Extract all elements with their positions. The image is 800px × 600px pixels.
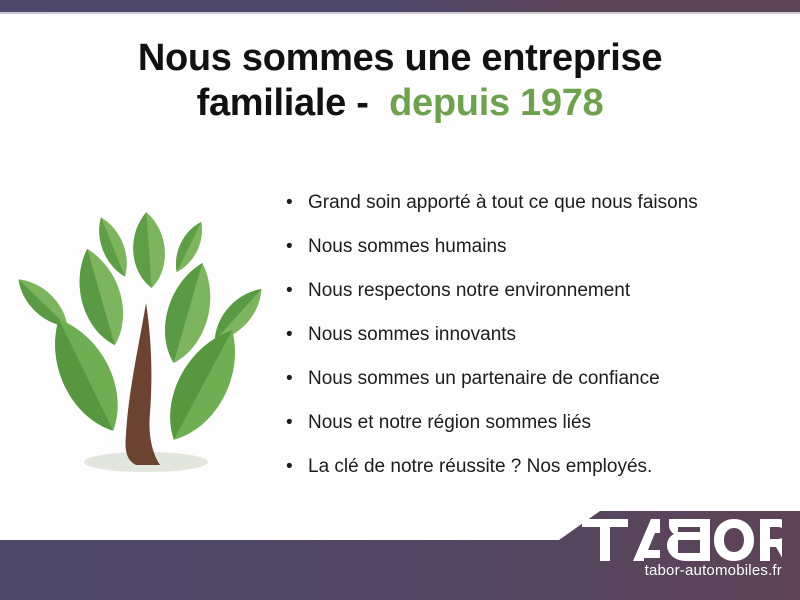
tree-trunk (125, 303, 160, 465)
title-plain-text: familiale (197, 82, 346, 124)
tree-illustration (18, 185, 268, 490)
brand-logo[interactable]: tabor-automobiles.fr (552, 519, 782, 579)
bullet-text: Nous sommes innovants (308, 322, 516, 348)
bullet-marker-icon: • (286, 278, 308, 304)
bullet-text: Nous sommes humains (308, 234, 507, 260)
slide-canvas: Nous sommes une entreprise familiale - d… (0, 0, 800, 600)
logo-wordmark-tabor (552, 519, 782, 561)
bullet-marker-icon: • (286, 322, 308, 348)
bullet-text: Nous respectons notre environnement (308, 278, 630, 304)
bullet-marker-icon: • (286, 190, 308, 216)
bullet-marker-icon: • (286, 454, 308, 480)
bullet-marker-icon: • (286, 410, 308, 436)
bullet-text: Nous et notre région sommes liés (308, 410, 591, 436)
bullet-marker-icon: • (286, 234, 308, 260)
bullet-marker-icon: • (286, 366, 308, 392)
title-accent-text: depuis 1978 (389, 82, 603, 124)
bullet-text: Grand soin apporté à tout ce que nous fa… (308, 190, 698, 216)
bullet-text: La clé de notre réussite ? Nos employés. (308, 454, 652, 480)
list-item: • Nous sommes humains (286, 234, 786, 278)
list-item: • Nous sommes un partenaire de confiance (286, 366, 786, 410)
title-dash: - (346, 82, 389, 124)
top-accent-hairline (0, 12, 800, 14)
top-accent-band (0, 0, 800, 12)
list-item: • La clé de notre réussite ? Nos employé… (286, 454, 786, 498)
bullet-list: • Grand soin apporté à tout ce que nous … (286, 190, 786, 498)
list-item: • Nous sommes innovants (286, 322, 786, 366)
footer-bar: tabor-automobiles.fr (0, 505, 800, 600)
title-line-1: Nous sommes une entreprise (0, 36, 800, 81)
list-item: • Nous respectons notre environnement (286, 278, 786, 322)
bullet-text: Nous sommes un partenaire de confiance (308, 366, 660, 392)
leaf-top-center (131, 211, 168, 289)
page-title: Nous sommes une entreprise familiale - d… (0, 36, 800, 126)
logo-url-text[interactable]: tabor-automobiles.fr (552, 562, 782, 579)
title-line-2: familiale - depuis 1978 (0, 81, 800, 126)
list-item: • Nous et notre région sommes liés (286, 410, 786, 454)
list-item: • Grand soin apporté à tout ce que nous … (286, 190, 786, 234)
